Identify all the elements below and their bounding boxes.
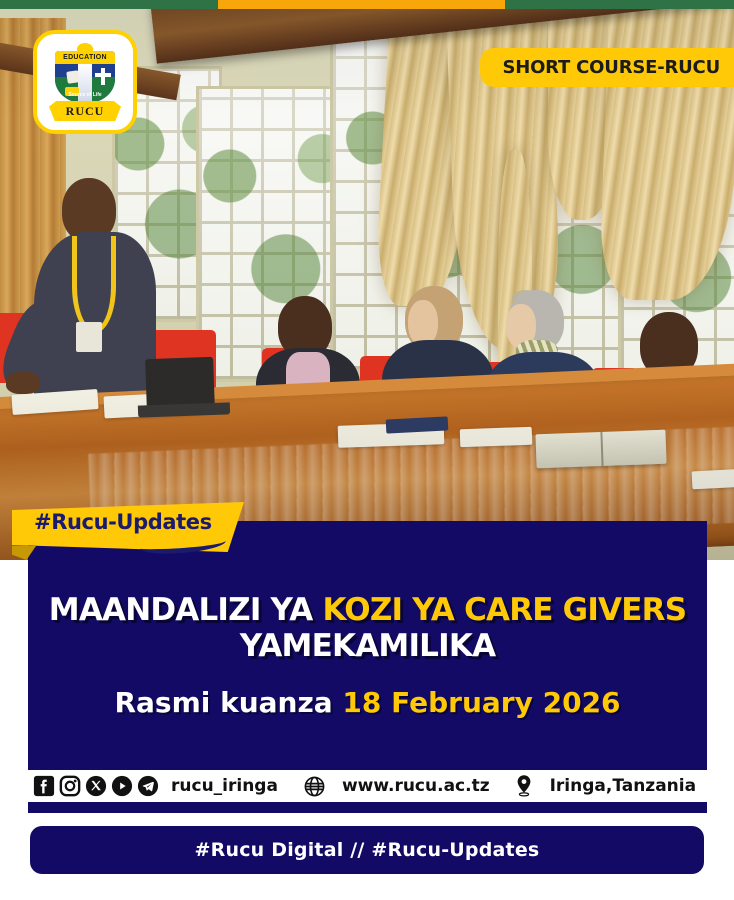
location-label: Iringa,Tanzania [550, 776, 696, 796]
subtitle-date: 18 February 2026 [342, 686, 620, 719]
telegram-icon[interactable] [136, 775, 159, 798]
crest-ribbon: RUCU [49, 101, 121, 121]
crest-shield: EDUCATION Source of Life [55, 51, 115, 103]
strip-segment-green-left [0, 0, 218, 9]
headline-block: MAANDALIZI YA KOZI YA CARE GIVERS YAMEKA… [28, 592, 707, 664]
social-handle-label: rucu_iringa [171, 776, 278, 796]
footer-hashtags-pill: #Rucu Digital // #Rucu-Updates [30, 826, 704, 874]
crest-ribbon-label: RUCU [66, 104, 105, 119]
headline-line-1: MAANDALIZI YA KOZI YA CARE GIVERS [28, 592, 707, 628]
hashtag-ribbon-label: #Rucu-Updates [34, 510, 212, 534]
rucu-logo-badge: EDUCATION Source of Life RUCU [33, 30, 137, 134]
poster-root: EDUCATION Source of Life RUCU SHORT COUR… [0, 0, 734, 900]
subtitle-block: Rasmi kuanza 18 February 2026 [28, 686, 707, 719]
panel-left-margin [0, 560, 28, 772]
headline-line-1-white: MAANDALIZI YA [49, 592, 323, 628]
top-color-strip [0, 0, 734, 9]
social-icon-group [32, 775, 159, 798]
globe-icon [303, 775, 326, 798]
website-label[interactable]: www.rucu.ac.tz [342, 776, 490, 796]
crest-band-label: EDUCATION [55, 51, 115, 64]
crest-motto-label: Source of Life [55, 92, 115, 98]
rucu-crest-icon: EDUCATION Source of Life RUCU [47, 43, 123, 121]
strip-segment-orange [218, 0, 505, 9]
location-pin-icon [514, 774, 534, 798]
strip-segment-green-right [505, 0, 734, 9]
footer-hashtags-label: #Rucu Digital // #Rucu-Updates [195, 839, 540, 861]
graduate-icon [66, 70, 80, 84]
short-course-badge: SHORT COURSE-RUCU [480, 48, 734, 87]
subtitle-prefix: Rasmi kuanza [114, 686, 342, 719]
youtube-icon[interactable] [110, 775, 133, 798]
x-twitter-icon[interactable] [84, 775, 107, 798]
headline-line-1-highlight: KOZI YA CARE GIVERS [322, 592, 686, 628]
contact-bar: rucu_iringa www.rucu.ac.tz Iringa,Tanzan… [0, 770, 734, 802]
contact-bar-underline [28, 802, 707, 813]
headline-line-2: YAMEKAMILIKA [28, 628, 707, 664]
panel-right-margin [707, 560, 734, 772]
facebook-icon[interactable] [32, 775, 55, 798]
instagram-icon[interactable] [58, 775, 81, 798]
short-course-badge-label: SHORT COURSE-RUCU [502, 57, 720, 78]
cross-icon [101, 68, 105, 85]
